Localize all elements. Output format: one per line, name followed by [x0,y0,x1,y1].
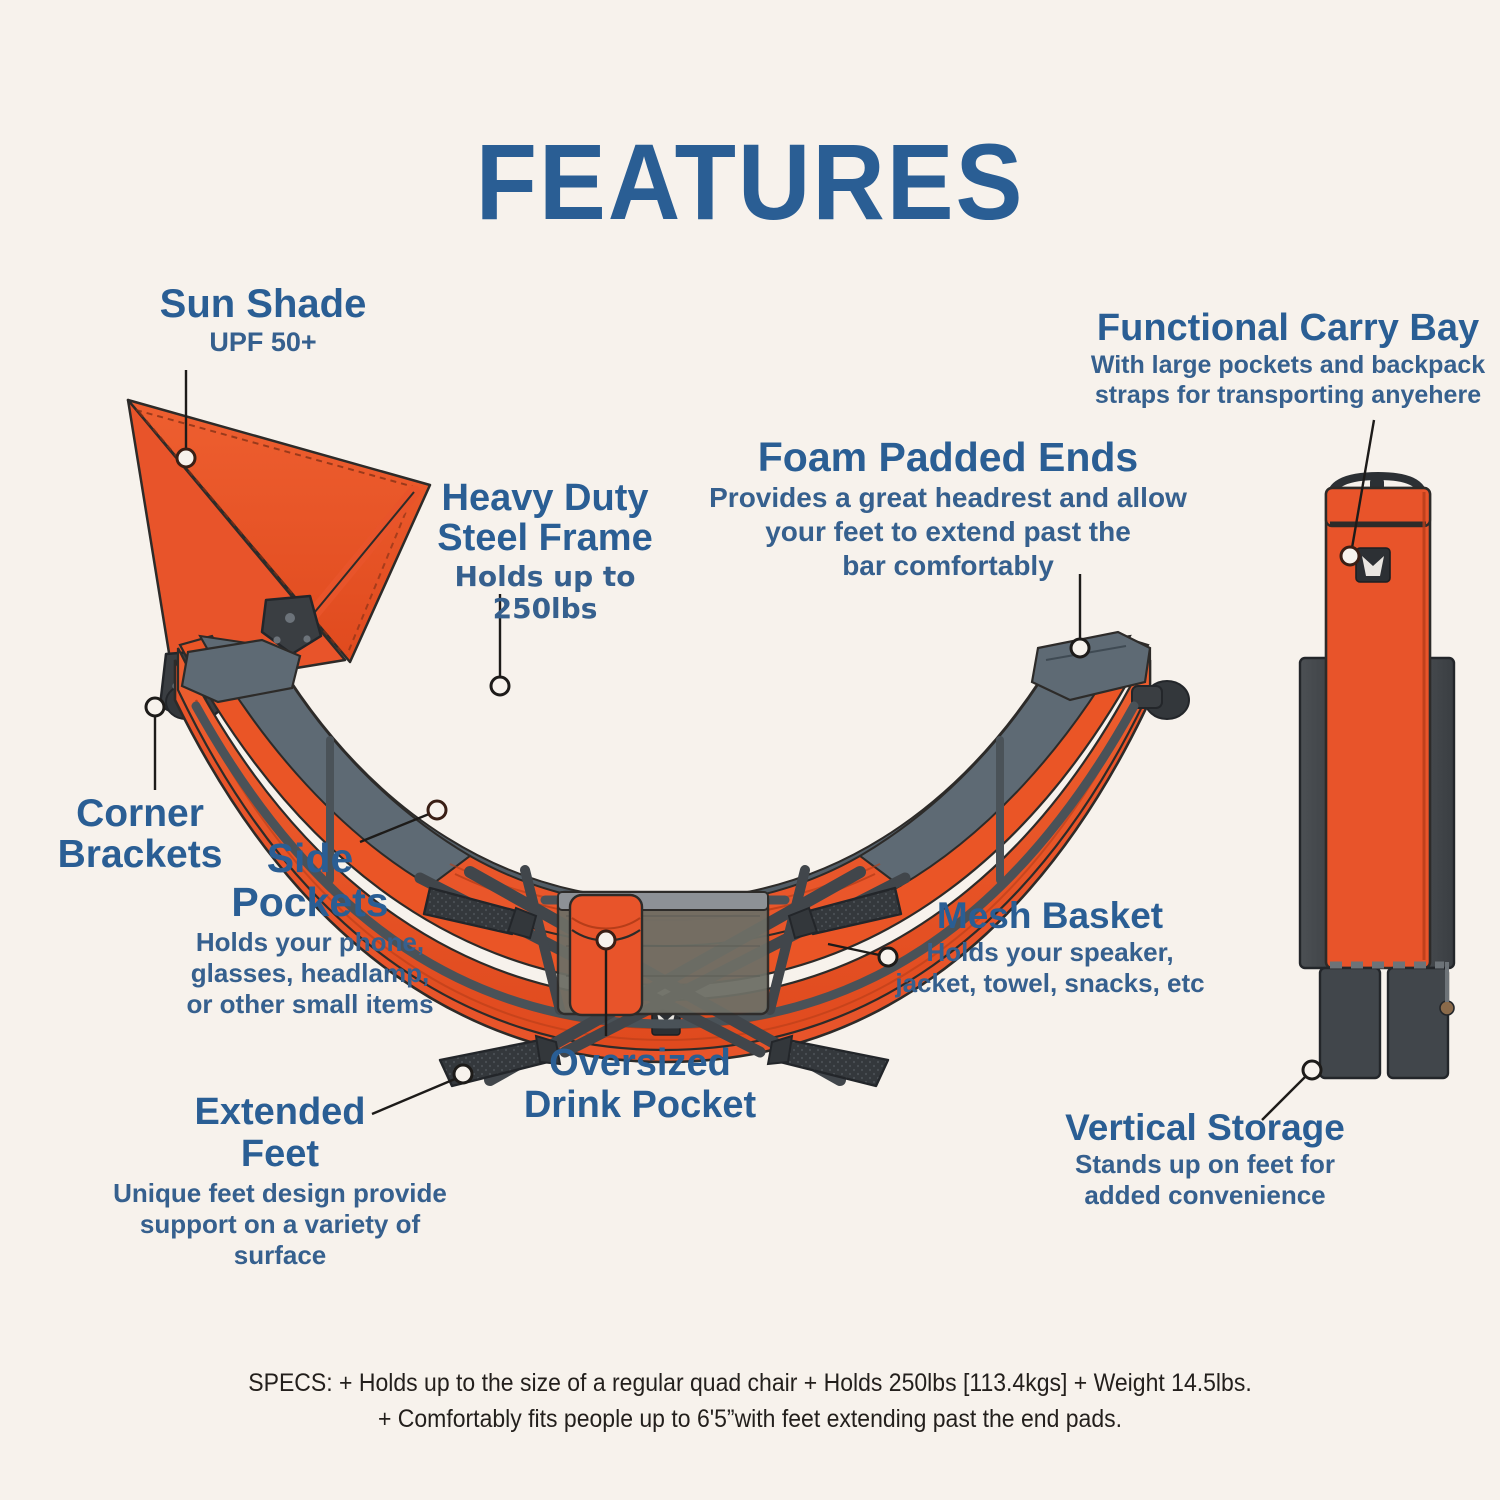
product-illustration [0,0,1500,1500]
carry-bag [1300,476,1454,1078]
callout-mesh-basket-title: Mesh Basket [880,896,1220,935]
callout-heavy-duty-title: Heavy Duty Steel Frame [400,478,690,559]
callout-vertical-storage: Vertical Storage Stands up on feet for a… [1035,1108,1375,1212]
carry-bag-foot-left [1320,968,1380,1078]
brand-badge-bag [1356,548,1390,582]
callout-foam-ends-title: Foam Padded Ends [690,436,1206,479]
callout-extended-feet-title: Extended Feet [110,1092,450,1176]
callout-vertical-storage-subtitle: Stands up on feet for added convenience [1035,1149,1375,1211]
callout-side-pockets-title: Side Pockets [160,836,460,925]
features-diagram: FEATURES [0,0,1500,1500]
carry-bag-foot-right [1388,968,1448,1078]
callout-sun-shade-title: Sun Shade [98,283,428,325]
callout-heavy-duty-subtitle: Holds up to 250lbs [400,561,690,626]
callout-mesh-basket: Mesh Basket Holds your speaker, jacket, … [880,896,1220,1000]
callout-carry-bay-subtitle: With large pockets and backpack straps f… [1078,350,1498,410]
callout-side-pockets-subtitle: Holds your phone, glasses, headlamp, or … [160,927,460,1021]
callout-side-pockets: Side Pockets Holds your phone, glasses, … [160,836,460,1020]
callout-foam-ends-subtitle: Provides a great headrest and allow your… [690,481,1206,582]
callout-vertical-storage-title: Vertical Storage [1035,1108,1375,1147]
callout-foam-ends: Foam Padded Ends Provides a great headre… [690,436,1206,582]
callout-extended-feet-subtitle: Unique feet design provide support on a … [110,1178,450,1272]
callout-carry-bay: Functional Carry Bay With large pockets … [1078,308,1498,410]
callout-carry-bay-title: Functional Carry Bay [1078,308,1498,348]
callout-sun-shade: Sun Shade UPF 50+ [98,283,428,359]
callout-drink-pocket-title: Oversized Drink Pocket [500,1043,780,1127]
callout-heavy-duty: Heavy Duty Steel Frame Holds up to 250lb… [400,478,690,625]
callout-mesh-basket-subtitle: Holds your speaker, jacket, towel, snack… [880,937,1220,999]
specs-text: SPECS: + Holds up to the size of a regul… [60,1366,1440,1437]
callout-extended-feet: Extended Feet Unique feet design provide… [110,1092,450,1271]
callout-drink-pocket: Oversized Drink Pocket [500,1043,780,1127]
callout-sun-shade-subtitle: UPF 50+ [98,327,428,358]
